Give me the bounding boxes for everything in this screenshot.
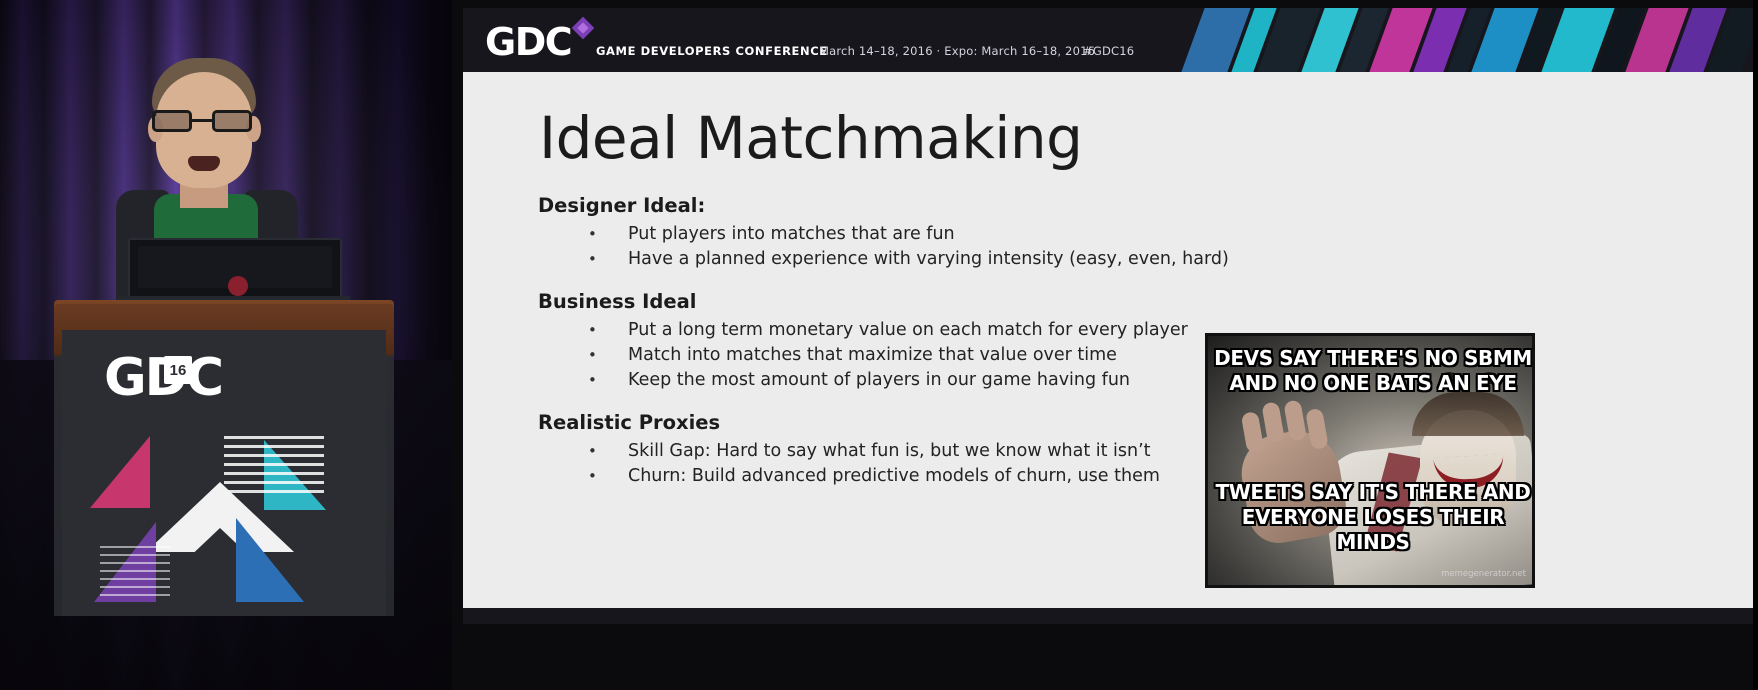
slide-header-banner: GDC GAME DEVELOPERS CONFERENCE March 14–… — [463, 8, 1753, 72]
section-bullet-list: Put players into matches that are fun Ha… — [564, 222, 1278, 272]
glasses-lens-left — [152, 110, 192, 132]
meme-top-caption: DEVS SAY THERE'S NO SBMM AND NO ONE BATS… — [1208, 346, 1535, 396]
list-item: Have a planned experience with varying i… — [564, 247, 1278, 272]
header-decorative-graphics — [1193, 8, 1753, 72]
meme-finger-1 — [1241, 411, 1265, 453]
artwork-stripes-bottom — [100, 546, 170, 598]
slide-section-designer-ideal: Designer Ideal: Put players into matches… — [538, 194, 1278, 272]
slide-bottom-strip — [463, 608, 1753, 624]
podium-front-panel: GDC 16 — [62, 330, 386, 616]
speaker-camera-feed: GDC 16 — [0, 0, 452, 690]
artwork-triangle-pink — [90, 436, 150, 508]
conference-dates: March 14–18, 2016 · Expo: March 16–18, 2… — [819, 44, 1095, 58]
right-edge-border — [1753, 0, 1758, 690]
presentation-recording-view: GDC 16 — [0, 0, 1758, 690]
glasses-lens-right — [212, 110, 252, 132]
conference-hashtag: #GDC16 — [1083, 44, 1134, 58]
section-bullet-list: Skill Gap: Hard to say what fun is, but … — [564, 439, 1278, 489]
speaker-glasses — [150, 110, 260, 132]
meme-image: DEVS SAY THERE'S NO SBMM AND NO ONE BATS… — [1205, 333, 1535, 588]
laptop-sticker-icon — [228, 276, 248, 296]
section-bullet-list: Put a long term monetary value on each m… — [564, 318, 1278, 393]
list-item: Put a long term monetary value on each m… — [564, 318, 1278, 343]
list-item: Churn: Build advanced predictive models … — [564, 464, 1278, 489]
meme-character-hair — [1412, 392, 1524, 436]
section-heading: Designer Ideal: — [538, 194, 1278, 217]
conference-name: GAME DEVELOPERS CONFERENCE — [596, 44, 828, 58]
list-item: Keep the most amount of players in our g… — [564, 368, 1278, 393]
meme-credit-watermark: memegenerator.net — [1441, 569, 1526, 579]
list-item: Put players into matches that are fun — [564, 222, 1278, 247]
podium-year-badge: 16 — [164, 356, 192, 384]
speaker-mouth — [188, 156, 220, 171]
section-heading: Realistic Proxies — [538, 411, 1278, 434]
podium-chevron-artwork — [86, 426, 366, 616]
section-heading: Business Ideal — [538, 290, 1278, 313]
gdc-logo: GDC — [485, 20, 571, 64]
meme-finger-4 — [1305, 408, 1329, 450]
meme-finger-2 — [1261, 401, 1285, 443]
artwork-triangle-blue — [236, 518, 304, 602]
slide-section-realistic-proxies: Realistic Proxies Skill Gap: Hard to say… — [538, 411, 1278, 489]
list-item: Match into matches that maximize that va… — [564, 343, 1278, 368]
slide-title: Ideal Matchmaking — [539, 104, 1083, 172]
slide-section-business-ideal: Business Ideal Put a long term monetary … — [538, 290, 1278, 393]
meme-finger-3 — [1283, 399, 1307, 441]
list-item: Skill Gap: Hard to say what fun is, but … — [564, 439, 1278, 464]
meme-bottom-caption: TWEETS SAY IT'S THERE AND EVERYONE LOSES… — [1208, 480, 1535, 555]
slide-body: Designer Ideal: Put players into matches… — [538, 194, 1278, 507]
presentation-slide: GDC GAME DEVELOPERS CONFERENCE March 14–… — [463, 8, 1753, 608]
glasses-bridge — [192, 119, 214, 122]
podium-gdc-logo: GDC — [104, 348, 222, 408]
